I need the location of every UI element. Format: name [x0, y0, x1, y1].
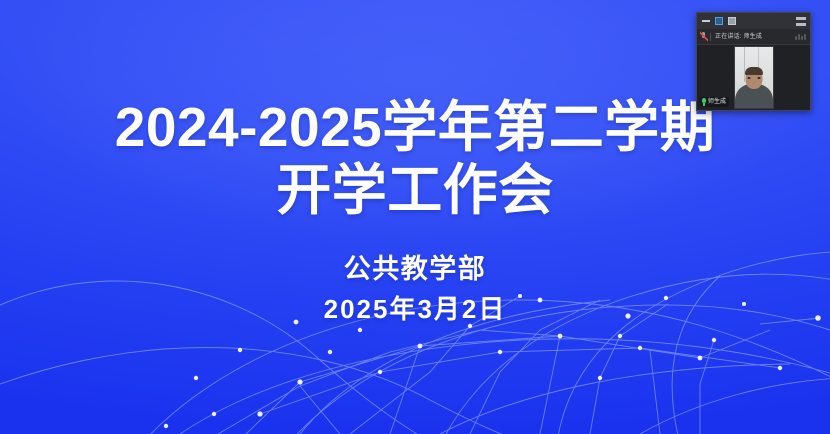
- slide-title-line-2: 开学工作会: [0, 159, 830, 222]
- maximize-icon[interactable]: [727, 17, 736, 26]
- participant-video-tile[interactable]: [734, 46, 774, 109]
- audio-waveform-icon: [795, 34, 806, 40]
- video-window-titlebar[interactable]: [697, 13, 810, 29]
- participant-name-badge: 师生成: [700, 97, 729, 107]
- participant-eyes: [747, 77, 760, 79]
- statusbar-divider: [710, 33, 711, 41]
- minimize-icon[interactable]: [701, 17, 710, 26]
- slide-date: 2025年3月2日: [0, 290, 830, 329]
- slide-department: 公共教学部: [0, 249, 830, 290]
- speaking-status-text: 正在讲话: 师生成: [715, 34, 762, 40]
- participant-name: 师生成: [708, 99, 726, 105]
- participant-hair: [745, 67, 763, 75]
- mic-active-icon: [702, 98, 706, 106]
- video-conference-window[interactable]: 正在讲话: 师生成 师生成: [696, 12, 811, 111]
- video-stage[interactable]: 师生成: [697, 45, 810, 110]
- window-controls: [701, 17, 736, 26]
- video-window-statusbar: 正在讲话: 师生成: [697, 29, 810, 45]
- screen: 2024-2025学年第二学期 开学工作会 公共教学部 2025年3月2日 正在…: [0, 0, 830, 434]
- mic-muted-icon[interactable]: [701, 32, 706, 41]
- slide-text-block: 2024-2025学年第二学期 开学工作会 公共教学部 2025年3月2日: [0, 96, 830, 329]
- titlebar-right-group: [796, 17, 806, 26]
- slide-subtitle-block: 公共教学部 2025年3月2日: [0, 249, 830, 329]
- layout-icon[interactable]: [796, 17, 806, 26]
- restore-icon[interactable]: [714, 17, 723, 26]
